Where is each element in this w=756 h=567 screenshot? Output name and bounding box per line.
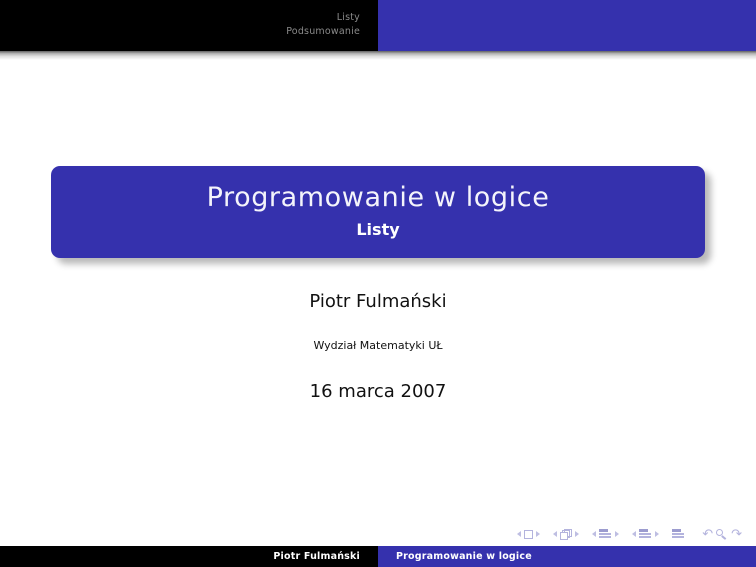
back-icon[interactable]: ↶	[702, 528, 713, 541]
frame-navigation-group[interactable]	[553, 529, 579, 540]
subsection-icon[interactable]	[599, 529, 612, 540]
frame-next-icon[interactable]	[575, 531, 579, 537]
slide-root: { "theme": { "accent_blue": "#3531ad", "…	[0, 0, 756, 567]
header-bar-right	[378, 0, 756, 51]
page-title: Programowanie w logice	[51, 166, 705, 214]
footer-bar: Piotr Fulmański Programowanie w logice	[0, 546, 756, 567]
section-prev-icon[interactable]	[632, 531, 636, 537]
header-nav-item-podsumowanie[interactable]: Podsumowanie	[286, 25, 360, 39]
header-nav-item-listy[interactable]: Listy	[286, 11, 360, 25]
title-meta: Piotr Fulmański Wydział Matematyki UŁ 16…	[0, 290, 756, 404]
subsection-navigation-group[interactable]	[592, 529, 619, 540]
page-subtitle: Listy	[51, 220, 705, 240]
slide-prev-icon[interactable]	[517, 531, 521, 537]
slide-icon[interactable]	[524, 530, 533, 539]
subsection-next-icon[interactable]	[615, 531, 619, 537]
forward-icon[interactable]: ↷	[731, 528, 742, 541]
presentation-icon[interactable]	[672, 529, 685, 540]
presentation-navigation-group[interactable]	[672, 529, 685, 540]
history-navigation-group[interactable]: ↶ ↷	[698, 528, 742, 541]
header-navigation: Listy Podsumowanie	[286, 11, 360, 39]
header-bar-left: Listy Podsumowanie	[0, 0, 378, 51]
frame-icon[interactable]	[560, 529, 572, 540]
slide-next-icon[interactable]	[536, 531, 540, 537]
beamer-navigation-symbols[interactable]: ↶ ↷	[517, 526, 742, 542]
subsection-prev-icon[interactable]	[592, 531, 596, 537]
find-icon[interactable]	[716, 529, 727, 540]
header-bar: Listy Podsumowanie	[0, 0, 756, 51]
footer-author: Piotr Fulmański	[0, 546, 378, 567]
footer-title: Programowanie w logice	[378, 546, 756, 567]
section-navigation-group[interactable]	[632, 529, 659, 540]
presentation-date: 16 marca 2007	[0, 380, 756, 404]
frame-prev-icon[interactable]	[553, 531, 557, 537]
header-shadow	[0, 51, 756, 60]
author-name: Piotr Fulmański	[0, 290, 756, 314]
title-block-wrapper: Programowanie w logice Listy	[51, 166, 705, 258]
section-next-icon[interactable]	[655, 531, 659, 537]
institute-name: Wydział Matematyki UŁ	[0, 338, 756, 354]
title-block: Programowanie w logice Listy	[51, 166, 705, 258]
slide-navigation-group[interactable]	[517, 530, 540, 539]
section-icon[interactable]	[639, 529, 652, 540]
